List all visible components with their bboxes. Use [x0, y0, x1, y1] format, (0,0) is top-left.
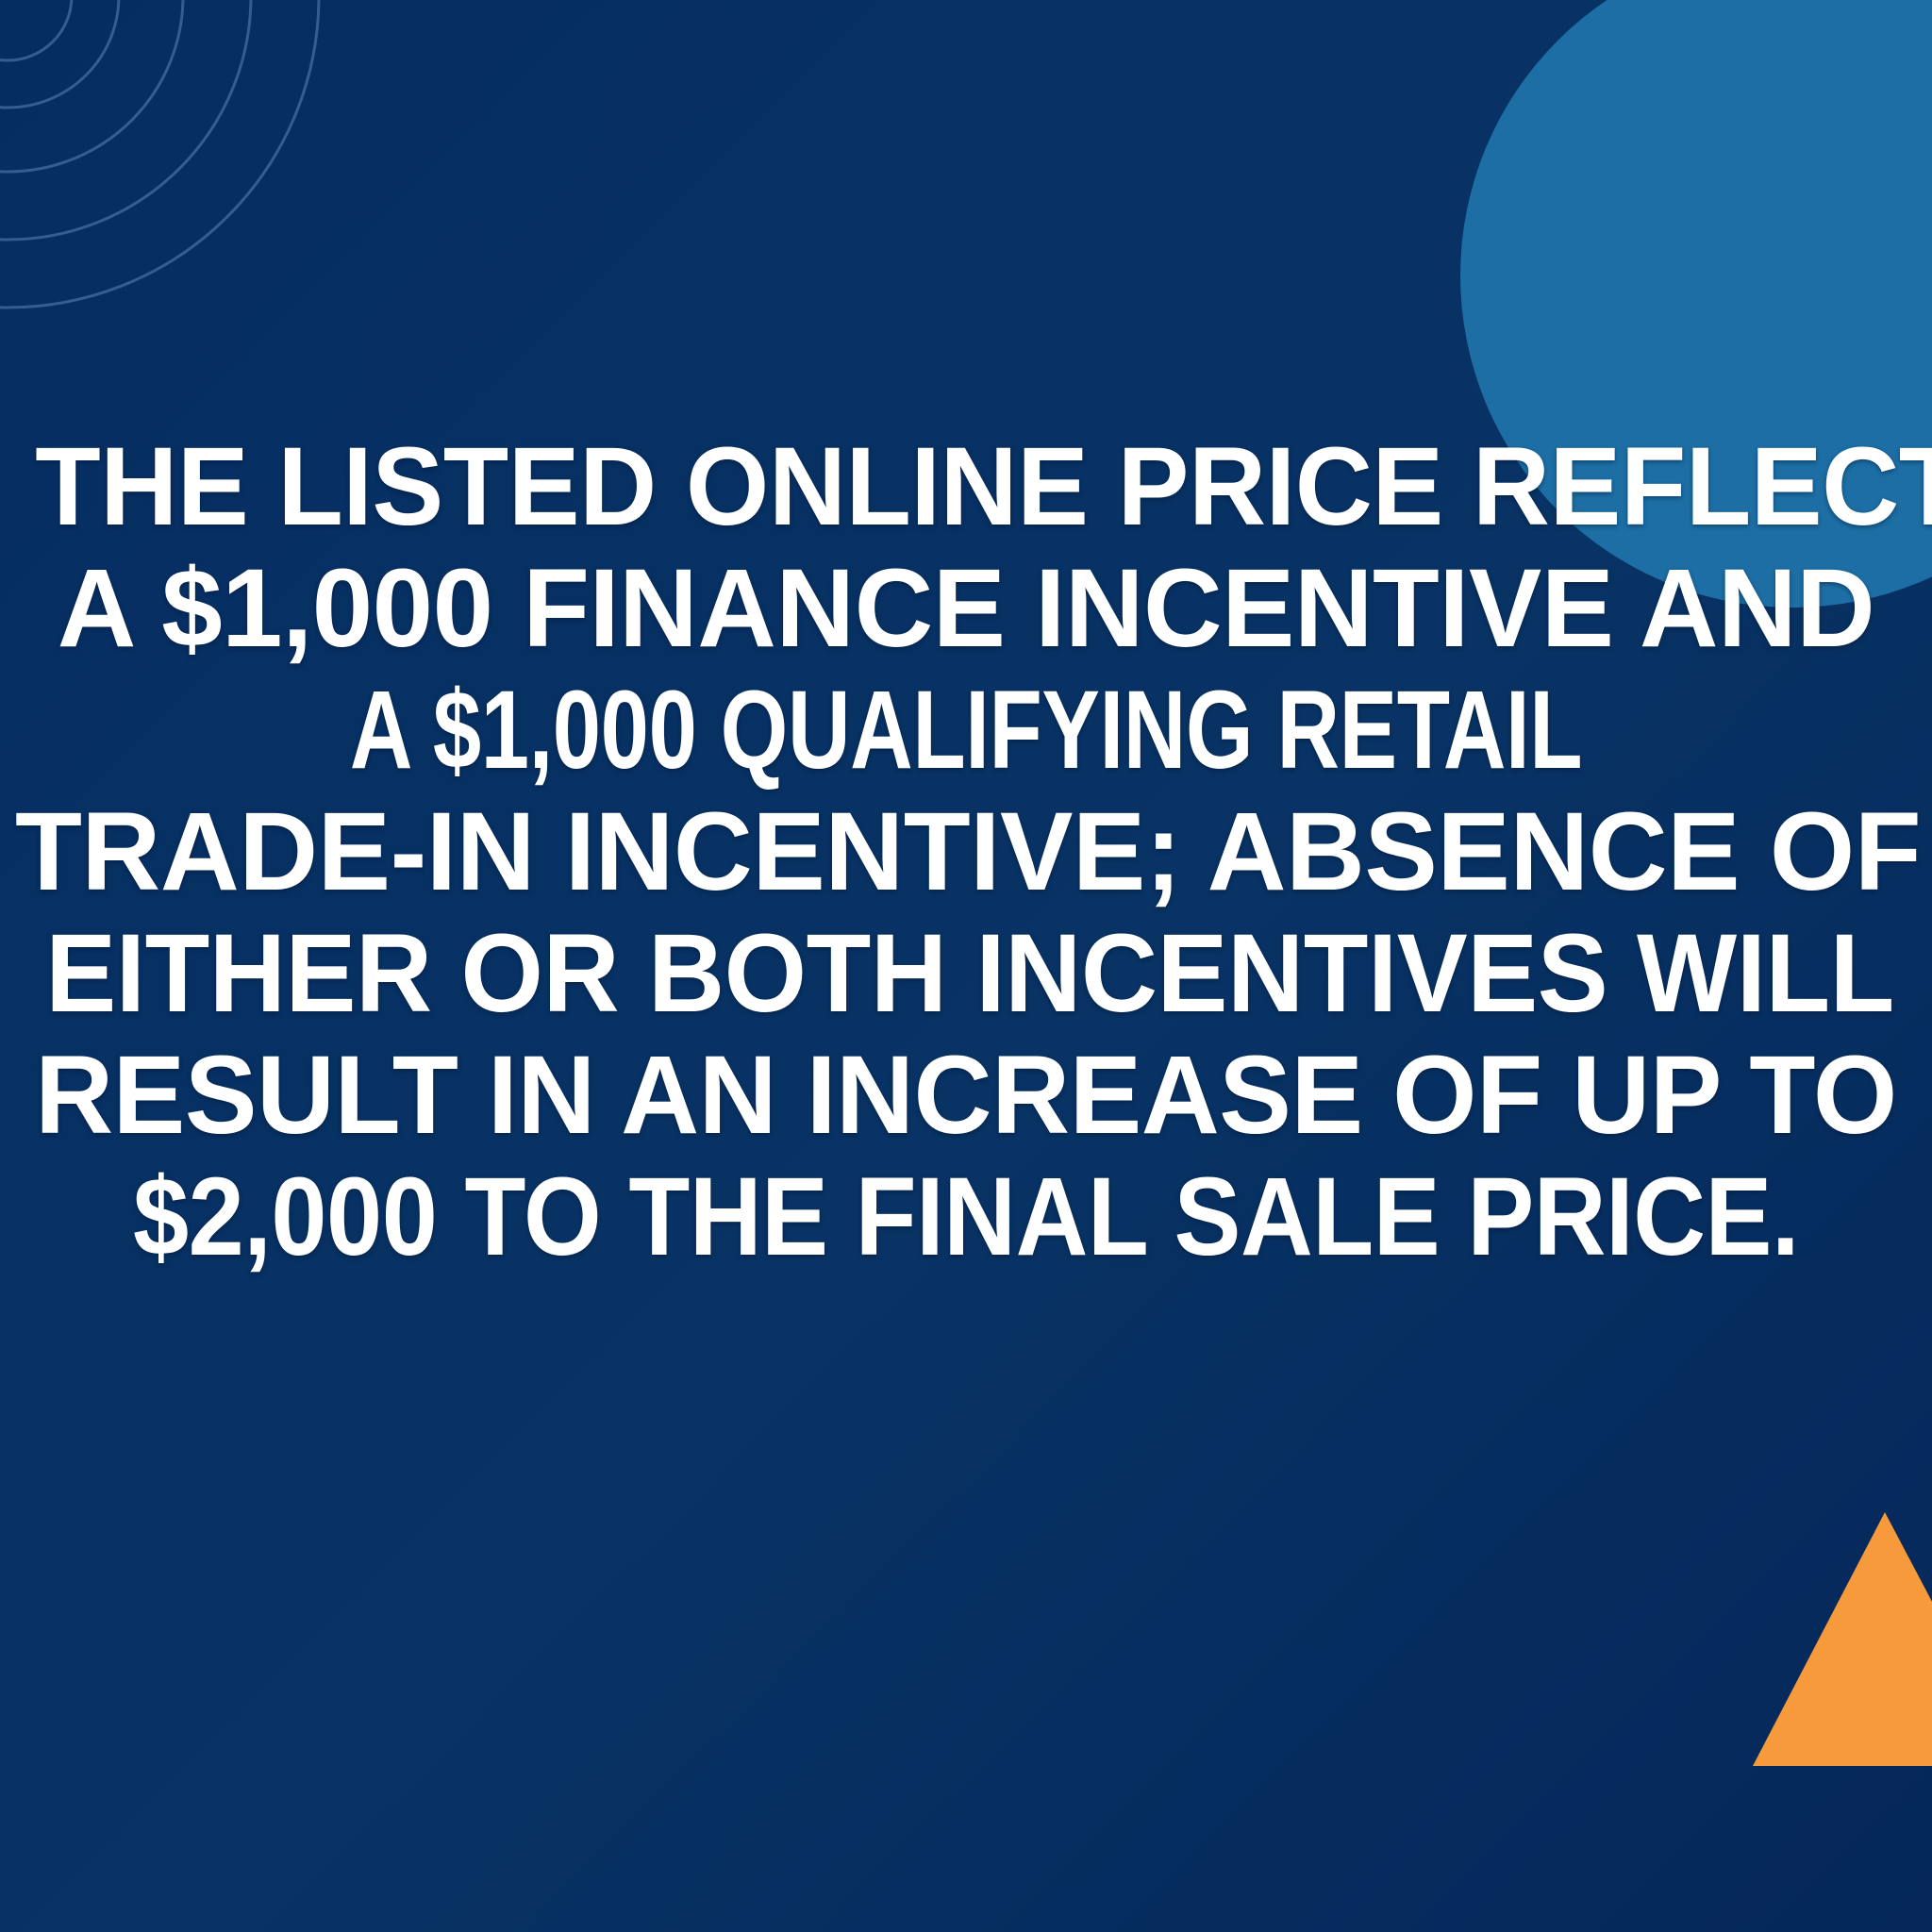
disclaimer-line: RESULT IN AN INCREASE OF UP TO [25, 1035, 1907, 1157]
disclaimer-line: EITHER OR BOTH INCENTIVES WILL [45, 913, 1886, 1035]
disclaimer-line: THE LISTED ONLINE PRICE REFLECTS [35, 426, 1897, 548]
disclaimer-line: A $1,000 FINANCE INCENTIVE AND [18, 548, 1914, 670]
disclaimer-line: A $1,000 QUALIFYING RETAIL [211, 670, 1721, 791]
disclaimer-text-block: THE LISTED ONLINE PRICE REFLECTS A $1,00… [0, 0, 1932, 1932]
disclaimer-line: TRADE-IN INCENTIVE; ABSENCE OF [15, 791, 1917, 913]
promotional-disclaimer-card: THE LISTED ONLINE PRICE REFLECTS A $1,00… [0, 0, 1932, 1932]
disclaimer-line: $2,000 TO THE FINAL SALE PRICE. [96, 1157, 1837, 1278]
